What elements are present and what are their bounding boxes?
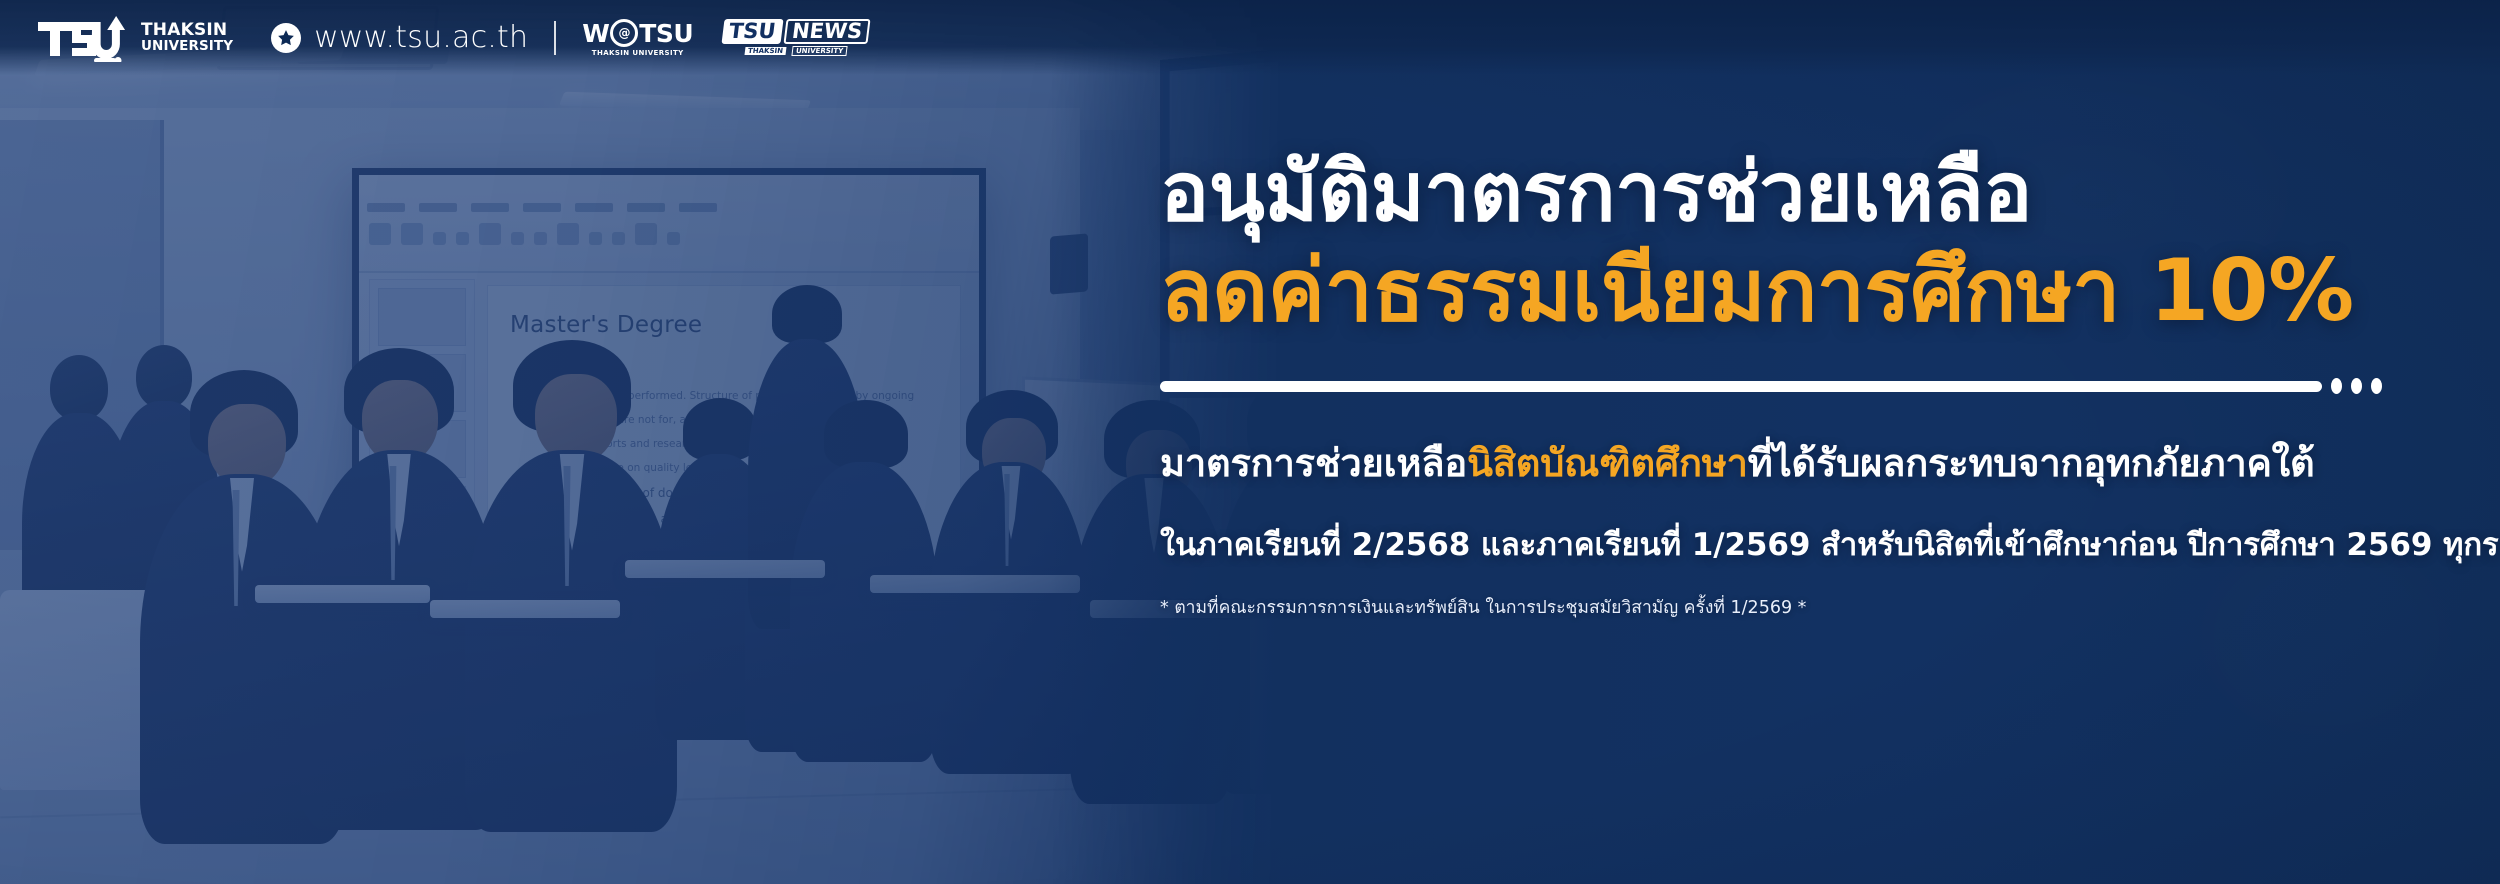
- tsu-news-logo-row: TSU NEWS: [723, 19, 869, 44]
- tsu-logo[interactable]: THAKSIN UNIVERSITY: [36, 14, 233, 62]
- divider-dot: [2351, 378, 2362, 394]
- tsu-name-line2: UNIVERSITY: [141, 40, 233, 54]
- promo-banner: Master's Degree Contact examples A full …: [0, 0, 2500, 884]
- tsu-monogram-icon: [36, 14, 132, 62]
- wetsu-logo-text: W @ TSU: [582, 19, 693, 48]
- divider-rule: [1160, 378, 2480, 394]
- news-tsu-text: TSU: [722, 19, 784, 44]
- website-link[interactable]: www.tsu.ac.th: [271, 20, 528, 55]
- website-url-text: www.tsu.ac.th: [314, 20, 528, 55]
- divider-bar: [1160, 381, 2322, 392]
- tsu-news-badge[interactable]: TSU NEWS THAKSIN UNIVERSITY: [723, 19, 869, 56]
- wetsu-tsu: TSU: [639, 19, 693, 48]
- news-sub-left: THAKSIN: [744, 47, 786, 55]
- wetsu-badge[interactable]: W @ TSU THAKSIN UNIVERSITY: [582, 19, 693, 57]
- tsu-wordmark: THAKSIN UNIVERSITY: [141, 22, 233, 54]
- star-icon: [271, 23, 301, 53]
- headline-line-1: อนุมัติมาตรการช่วยเหลือ: [1160, 150, 2480, 236]
- news-sub-right: UNIVERSITY: [791, 46, 847, 56]
- topbar-divider: [554, 21, 556, 55]
- subheadline-highlight: นิสิตบัณฑิตศึกษา: [1467, 441, 1748, 485]
- headline-line-2: ลดค่าธรรมเนียมการศึกษา 10%: [1160, 246, 2480, 336]
- wetsu-w: W: [582, 19, 609, 48]
- tsu-news-subtitle-row: THAKSIN UNIVERSITY: [744, 46, 847, 56]
- subheadline-part-2: ที่ได้รับผลกระทบจากอุทกภัยภาคใต้: [1748, 441, 2315, 485]
- wetsu-subtitle: THAKSIN UNIVERSITY: [592, 49, 684, 57]
- news-news-text: NEWS: [783, 19, 870, 44]
- footnote-text: * ตามที่คณะกรรมการการเงินและทรัพย์สิน ใน…: [1160, 593, 2480, 621]
- at-icon: @: [610, 19, 638, 47]
- subheadline-line-1: มาตรการช่วยเหลือนิสิตบัณฑิตศึกษาที่ได้รั…: [1160, 432, 2480, 493]
- brand-topbar: THAKSIN UNIVERSITY www.tsu.ac.th W @ TSU…: [0, 0, 2500, 75]
- subheadline-part-1: มาตรการช่วยเหลือ: [1160, 441, 1467, 485]
- divider-dot: [2371, 378, 2382, 394]
- tsu-name-line1: THAKSIN: [141, 22, 233, 39]
- announcement-content: อนุมัติมาตรการช่วยเหลือ ลดค่าธรรมเนียมกา…: [1160, 150, 2480, 621]
- divider-dot: [2331, 378, 2342, 394]
- subheadline-line-2: ในภาคเรียนที่ 2/2568 และภาคเรียนที่ 1/25…: [1160, 519, 2480, 569]
